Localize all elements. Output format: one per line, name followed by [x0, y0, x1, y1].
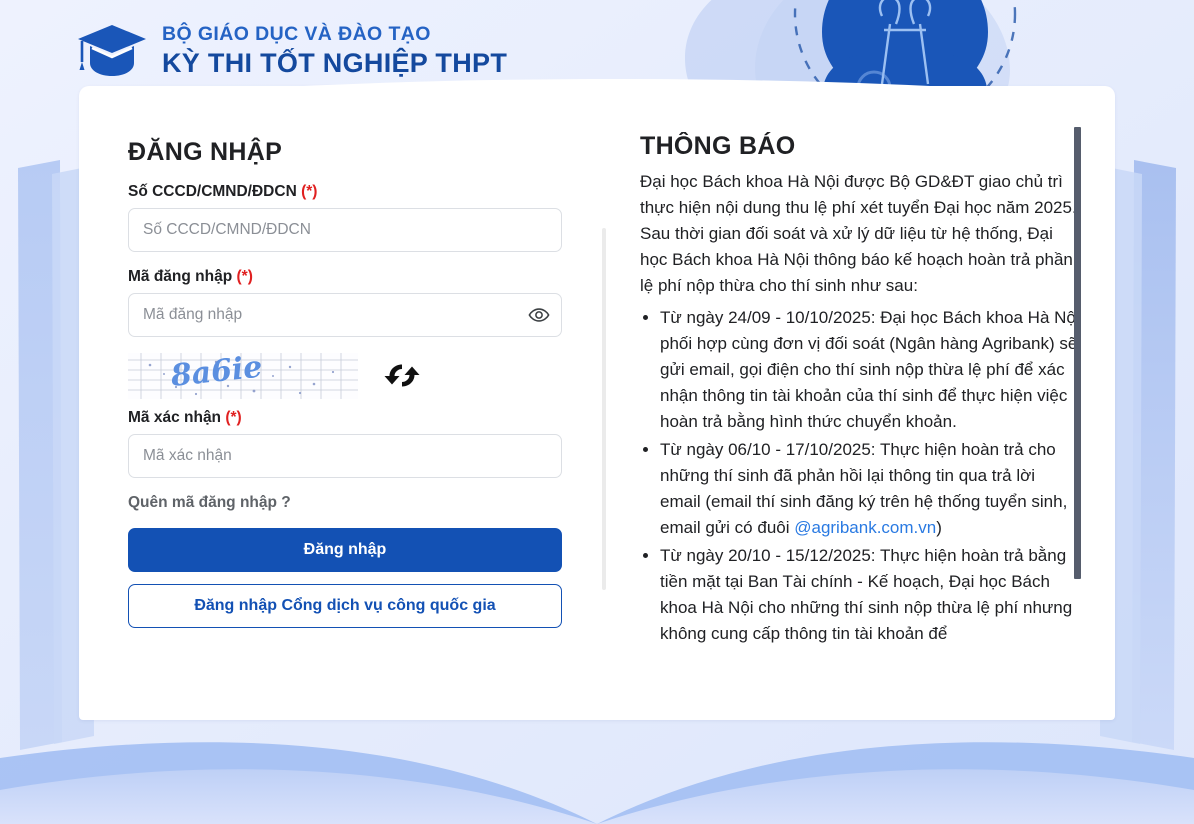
id-field-wrapper	[128, 208, 562, 252]
column-divider	[602, 228, 606, 590]
captcha-image: 8a6ie	[128, 353, 358, 399]
refresh-icon	[383, 359, 421, 392]
eye-icon	[528, 304, 550, 326]
logo-line-1: BỘ GIÁO DỤC VÀ ĐÀO TẠO	[162, 25, 507, 45]
notice-bullet-2: Từ ngày 06/10 - 17/10/2025: Thực hiện ho…	[660, 437, 1080, 541]
id-field-label-text: Số CCCD/CMND/ĐDCN	[128, 183, 297, 200]
notice-scrollbar-thumb[interactable]	[1074, 127, 1081, 579]
captcha-row: 8a6ie	[128, 353, 562, 399]
notice-content: Đại học Bách khoa Hà Nội được Bộ GD&ĐT g…	[640, 169, 1080, 647]
agribank-email-link[interactable]: @agribank.com.vn	[794, 518, 936, 537]
toggle-password-visibility-button[interactable]	[528, 304, 550, 326]
notice-panel: THÔNG BÁO Đại học Bách khoa Hà Nội được …	[640, 132, 1080, 688]
code-field-label-text: Mã đăng nhập	[128, 268, 232, 285]
captcha-field-wrapper	[128, 434, 562, 478]
captcha-required-marker: (*)	[225, 409, 241, 426]
notice-bullet-1: Từ ngày 24/09 - 10/10/2025: Đại học Bách…	[660, 305, 1080, 435]
notice-bullet-3: Từ ngày 20/10 - 15/12/2025: Thực hiện ho…	[660, 543, 1080, 647]
notice-bullet-2-suffix: )	[936, 518, 942, 537]
login-form: ĐĂNG NHẬP Số CCCD/CMND/ĐDCN (*) Mã đăng …	[128, 138, 562, 628]
login-submit-button[interactable]: Đăng nhập	[128, 528, 562, 572]
refresh-captcha-button[interactable]	[382, 359, 422, 393]
forgot-code-link[interactable]: Quên mã đăng nhập ?	[128, 494, 562, 512]
logo-line-2: KỲ THI TỐT NGHIỆP THPT	[162, 50, 507, 77]
captcha-input[interactable]	[128, 434, 562, 478]
site-logo: BỘ GIÁO DỤC VÀ ĐÀO TẠO KỲ THI TỐT NGHIỆP…	[76, 22, 507, 80]
main-card: ĐĂNG NHẬP Số CCCD/CMND/ĐDCN (*) Mã đăng …	[79, 86, 1115, 720]
id-field-label: Số CCCD/CMND/ĐDCN (*)	[128, 183, 562, 201]
code-input[interactable]	[128, 293, 562, 337]
code-required-marker: (*)	[237, 268, 253, 285]
code-field-wrapper	[128, 293, 562, 337]
national-portal-login-button[interactable]: Đăng nhập Cổng dịch vụ công quốc gia	[128, 584, 562, 628]
captcha-field-label-text: Mã xác nhận	[128, 409, 221, 426]
captcha-field-label: Mã xác nhận (*)	[128, 409, 562, 427]
id-required-marker: (*)	[301, 183, 317, 200]
graduation-cap-icon	[76, 22, 148, 80]
notice-bullet-list: Từ ngày 24/09 - 10/10/2025: Đại học Bách…	[640, 305, 1080, 647]
notice-intro-paragraph: Đại học Bách khoa Hà Nội được Bộ GD&ĐT g…	[640, 169, 1080, 299]
id-input[interactable]	[128, 208, 562, 252]
login-heading: ĐĂNG NHẬP	[128, 138, 562, 167]
code-field-label: Mã đăng nhập (*)	[128, 268, 562, 286]
notice-heading: THÔNG BÁO	[640, 132, 1080, 161]
